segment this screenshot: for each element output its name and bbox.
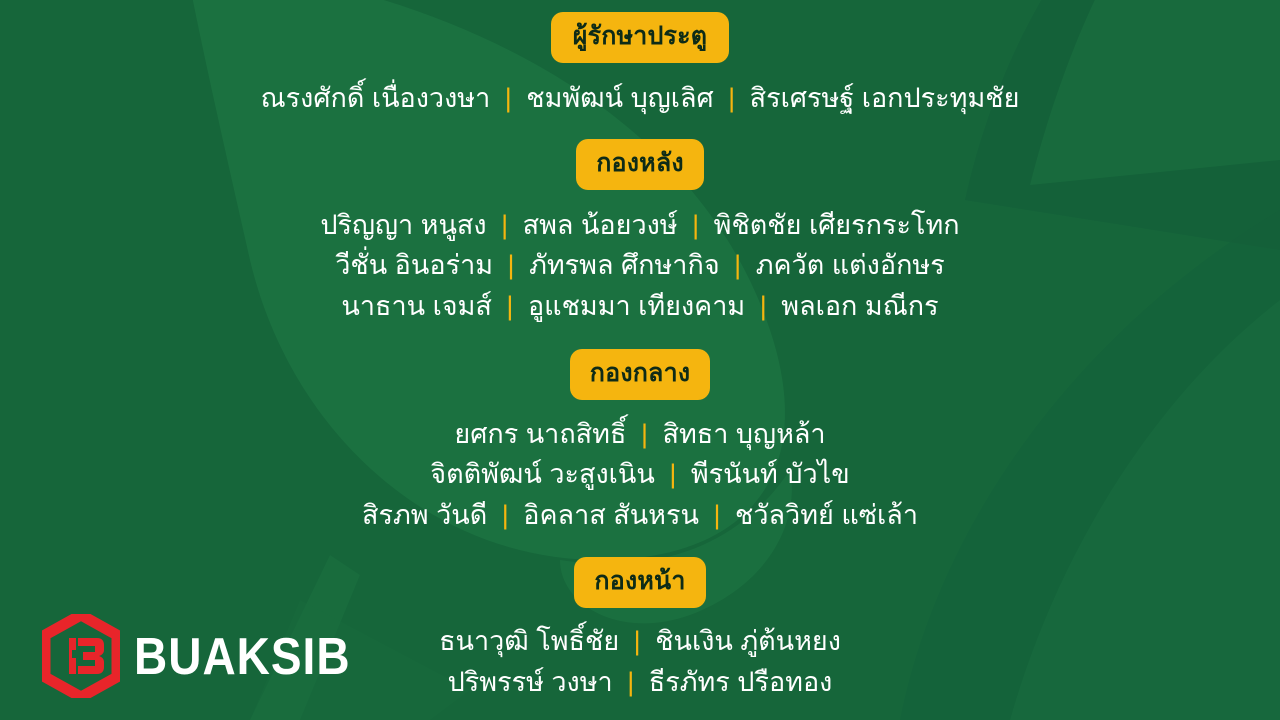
- separator-icon: |: [706, 500, 727, 530]
- separator-icon: |: [662, 459, 683, 489]
- player-name: สิรภพ วันดี: [362, 500, 487, 530]
- player-name: พีรนันท์ บัวไข: [691, 459, 850, 489]
- name-list-midfielders: ยศกร นาถสิทธิ์ | สิทธา บุญหล้า จิตติพัฒน…: [362, 417, 918, 534]
- separator-icon: |: [501, 250, 522, 280]
- name-row: ธนาวุฒิ โพธิ์ชัย | ชินเงิน ภู่ต้นหยง: [439, 624, 841, 660]
- player-name: ภัทรพล ศึกษากิจ: [529, 250, 720, 280]
- player-name: นาธาน เจมส์: [341, 291, 492, 321]
- name-list-forwards: ธนาวุฒิ โพธิ์ชัย | ชินเงิน ภู่ต้นหยง ปริ…: [439, 624, 841, 700]
- separator-icon: |: [634, 419, 655, 449]
- separator-icon: |: [495, 500, 516, 530]
- separator-icon: |: [721, 83, 742, 113]
- brand-logo: BUAKSIB: [42, 614, 351, 698]
- player-name: ชินเงิน ภู่ต้นหยง: [655, 626, 841, 656]
- separator-icon: |: [620, 667, 641, 697]
- player-name: สิทธา บุญหล้า: [663, 419, 826, 449]
- section-badge-forwards: กองหน้า: [574, 557, 705, 608]
- separator-icon: |: [627, 626, 648, 656]
- section-goalkeepers: ผู้รักษาประตู ณรงศักดิ์ เนื่องวงษา | ชมพ…: [0, 12, 1280, 117]
- name-row: ยศกร นาถสิทธิ์ | สิทธา บุญหล้า: [454, 417, 825, 453]
- name-row: จิตติพัฒน์ วะสูงเนิน | พีรนันท์ บัวไข: [430, 457, 849, 493]
- name-row: ปริญญา หนูสง | สพล น้อยวงษ์ | พิชิตชัย เ…: [320, 208, 959, 244]
- separator-icon: |: [753, 291, 774, 321]
- player-name: ชวัลวิทย์ แซ่เล้า: [735, 500, 918, 530]
- name-row: นาธาน เจมส์ | อูแชมมา เทียงคาม | พลเอก ม…: [341, 289, 938, 325]
- player-name: ธนาวุฒิ โพธิ์ชัย: [439, 626, 619, 656]
- player-name: วีชั่น อินอร่าม: [335, 250, 493, 280]
- player-name: ธีรภัทร ปรือทอง: [649, 667, 833, 697]
- separator-icon: |: [499, 291, 520, 321]
- name-list-goalkeepers: ณรงศักดิ์ เนื่องวงษา | ชมพัฒน์ บุญเลิศ |…: [261, 81, 1020, 117]
- player-name: พิชิตชัย เศียรกระโทก: [714, 210, 960, 240]
- name-list-defenders: ปริญญา หนูสง | สพล น้อยวงษ์ | พิชิตชัย เ…: [320, 208, 959, 325]
- player-name: สพล น้อยวงษ์: [523, 210, 678, 240]
- lineup-graphic: ผู้รักษาประตู ณรงศักดิ์ เนื่องวงษา | ชมพ…: [0, 0, 1280, 720]
- section-badge-defenders: กองหลัง: [576, 139, 704, 190]
- name-row: ณรงศักดิ์ เนื่องวงษา | ชมพัฒน์ บุญเลิศ |…: [261, 81, 1020, 117]
- section-badge-midfielders: กองกลาง: [570, 349, 710, 400]
- separator-icon: |: [494, 210, 515, 240]
- name-row: ปริพรรษ์ วงษา | ธีรภัทร ปรือทอง: [448, 665, 833, 701]
- hexagon-inner-glyph: [69, 638, 104, 674]
- brand-wordmark: BUAKSIB: [134, 630, 351, 682]
- player-name: อิคลาส สันหรน: [523, 500, 699, 530]
- name-row: สิรภพ วันดี | อิคลาส สันหรน | ชวัลวิทย์ …: [362, 498, 918, 534]
- section-midfielders: กองกลาง ยศกร นาถสิทธิ์ | สิทธา บุญหล้า จ…: [0, 349, 1280, 534]
- section-defenders: กองหลัง ปริญญา หนูสง | สพล น้อยวงษ์ | พิ…: [0, 139, 1280, 325]
- player-name: ชมพัฒน์ บุญเลิศ: [526, 83, 713, 113]
- separator-icon: |: [727, 250, 748, 280]
- section-badge-goalkeepers: ผู้รักษาประตู: [551, 12, 730, 63]
- player-name: ภควัต แต่งอักษร: [756, 250, 945, 280]
- player-name: ยศกร นาถสิทธิ์: [454, 419, 626, 449]
- separator-icon: |: [498, 83, 519, 113]
- name-row: วีชั่น อินอร่าม | ภัทรพล ศึกษากิจ | ภควั…: [335, 248, 945, 284]
- player-name: อูแชมมา เทียงคาม: [528, 291, 745, 321]
- player-name: ปริญญา หนูสง: [320, 210, 486, 240]
- player-name: สิรเศรษฐ์ เอกประทุมชัย: [750, 83, 1020, 113]
- player-name: พลเอก มณีกร: [781, 291, 938, 321]
- hexagon-outline: [45, 615, 117, 697]
- hexagon-b-logo-icon: [42, 614, 120, 698]
- player-name: ปริพรรษ์ วงษา: [448, 667, 613, 697]
- separator-icon: |: [685, 210, 706, 240]
- lineup-content: ผู้รักษาประตู ณรงศักดิ์ เนื่องวงษา | ชมพ…: [0, 0, 1280, 720]
- player-name: จิตติพัฒน์ วะสูงเนิน: [430, 459, 655, 489]
- player-name: ณรงศักดิ์ เนื่องวงษา: [261, 83, 491, 113]
